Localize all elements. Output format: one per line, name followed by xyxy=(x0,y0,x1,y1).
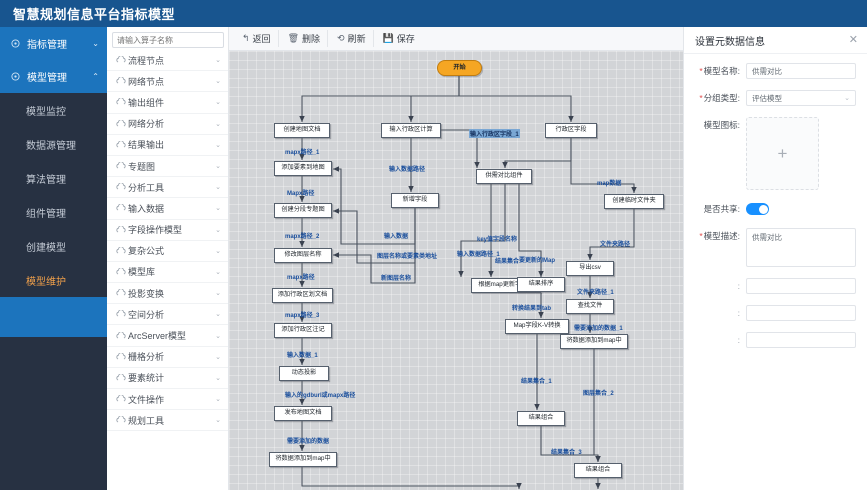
chevron-down-icon[interactable]: ⌄ xyxy=(215,395,221,403)
chevron-down-icon[interactable]: ⌄ xyxy=(215,120,221,128)
cloud-icon xyxy=(116,140,128,150)
plus-icon: + xyxy=(778,144,788,164)
field-control: + xyxy=(746,117,856,190)
tree-item-label: 分析工具 xyxy=(128,181,215,194)
cloud-icon xyxy=(116,55,128,65)
sidebar-item-label: 数据源管理 xyxy=(26,137,76,152)
field-control xyxy=(746,332,856,348)
flow-node[interactable]: 行政区字段 xyxy=(545,123,597,138)
flow-node[interactable]: 结果组合 xyxy=(574,463,622,478)
flow-node[interactable]: 结果组合 xyxy=(517,411,565,426)
tree-item[interactable]: 复杂公式⌄ xyxy=(107,241,228,262)
tree-item[interactable]: 模型库⌄ xyxy=(107,262,228,283)
flow-edge-label[interactable]: mapx路径_2 xyxy=(285,231,319,240)
extra_1-input[interactable] xyxy=(746,278,856,294)
sidebar-item-component[interactable]: 组件管理 xyxy=(0,195,107,229)
flow-canvas[interactable]: 开始创建地图文档添加要素到地图创建分段专题图修改图层名称添加行政区划文档添加行政… xyxy=(229,51,683,490)
field-label: 是否共享: xyxy=(690,201,746,217)
chevron-down-icon[interactable]: ⌄ xyxy=(215,247,221,255)
cloud-icon xyxy=(116,76,128,86)
tree-item[interactable]: 空间分析⌄ xyxy=(107,304,228,325)
flow-node[interactable]: 动态投影 xyxy=(279,366,329,381)
sidebar-group-label: 模型管理 xyxy=(27,69,92,84)
chevron-down-icon[interactable]: ⌄ xyxy=(215,268,221,276)
refresh-icon: ⟲ xyxy=(337,33,345,44)
flow-edge-label[interactable]: mapx路径_1 xyxy=(285,147,319,156)
extra_3-input[interactable] xyxy=(746,332,856,348)
sidebar: 指标管理 ⌄ 模型管理 ⌃ 模型监控 数据源管理 算法管理 组件管理 创建模型 … xyxy=(0,27,107,490)
required-asterisk: * xyxy=(699,66,702,76)
tree-item[interactable]: 要素统计⌄ xyxy=(107,368,228,389)
model_desc-textarea[interactable]: 供需对比 xyxy=(746,228,856,267)
tree-item-label: 输出组件 xyxy=(128,96,215,109)
tree-item[interactable]: 字段操作模型⌄ xyxy=(107,220,228,241)
extra_2-input[interactable] xyxy=(746,305,856,321)
flow-edge-label[interactable]: 新图层名称 xyxy=(381,273,411,282)
cloud-icon xyxy=(116,288,128,298)
flow-edge-label[interactable]: 输入数据 xyxy=(384,231,408,240)
flow-edge-label[interactable]: key值字段名称 xyxy=(477,234,517,243)
sidebar-item-label: 算法管理 xyxy=(26,171,66,186)
flow-edge-label[interactable]: 输入的gdburl或mapx路径 xyxy=(285,390,355,399)
chevron-down-icon[interactable]: ⌄ xyxy=(215,183,221,191)
cloud-icon xyxy=(116,203,128,213)
tree-item[interactable]: 结果输出⌄ xyxy=(107,135,228,156)
chevron-down-icon[interactable]: ⌄ xyxy=(215,374,221,382)
delete-button[interactable]: 🗑删除 xyxy=(281,30,328,47)
cloud-icon xyxy=(116,97,128,107)
flow-node[interactable]: 创建分段专题图 xyxy=(274,203,332,218)
app-root: 智慧规划信息平台指标模型 指标管理 ⌄ 模型管理 ⌃ 模型监控 数据源管理 算法… xyxy=(0,0,867,490)
chevron-down-icon[interactable]: ⌄ xyxy=(215,56,221,64)
chevron-down-icon[interactable]: ⌄ xyxy=(215,353,221,361)
toggle-knob xyxy=(759,205,768,214)
flow-node[interactable]: 修改图层名称 xyxy=(274,248,332,263)
flow-edge-label[interactable]: 转换结果到tab xyxy=(512,303,551,312)
sidebar-item-create-model[interactable]: 创建模型 xyxy=(0,229,107,263)
flow-node[interactable]: 添加要素到地图 xyxy=(274,161,332,176)
tree-item[interactable]: 投影变换⌄ xyxy=(107,283,228,304)
chevron-down-icon[interactable]: ⌄ xyxy=(215,226,221,234)
field-label: 模型图标: xyxy=(690,117,746,133)
tree-item-label: 文件操作 xyxy=(128,393,215,406)
flow-node[interactable]: 结果排序 xyxy=(517,277,565,292)
tree-item-label: 流程节点 xyxy=(128,54,215,67)
flow-edge-label[interactable]: 结果集合_1 xyxy=(521,376,552,385)
flow-edge-label[interactable]: 结果集合 xyxy=(495,256,519,265)
tree-item-label: 输入数据 xyxy=(128,202,215,215)
panel-title: 设置元数据信息 xyxy=(695,33,765,48)
toolbar-button-label: 返回 xyxy=(253,32,271,45)
flow-edge-label[interactable]: 结果集合_3 xyxy=(551,447,582,456)
cloud-icon xyxy=(116,394,128,404)
tree-item-label: ArcServer模型 xyxy=(128,329,215,342)
flow-edge-label[interactable]: 输入数据_1 xyxy=(287,350,318,359)
flow-edge-label[interactable]: 需要添加的数据 xyxy=(287,436,329,445)
metadata-panel-header: 设置元数据信息 ✕ xyxy=(684,27,867,54)
flow-node[interactable]: 添加行政区注记 xyxy=(274,323,332,338)
cloud-icon xyxy=(116,415,128,425)
field-control xyxy=(746,201,856,215)
chevron-down-icon[interactable]: ⌄ xyxy=(215,289,221,297)
operator-tree-panel: ⌄ 流程节点⌄网络节点⌄输出组件⌄网络分析⌄结果输出⌄专题图⌄分析工具⌄输入数据… xyxy=(107,27,229,490)
back-arrow-icon: ↰ xyxy=(242,33,250,44)
flow-edge-label[interactable]: Mapx路径 xyxy=(287,188,314,197)
tree-item[interactable]: ArcServer模型⌄ xyxy=(107,325,228,346)
flow-node[interactable]: 输入行政区计算 xyxy=(381,123,441,138)
tree-item-label: 专题图 xyxy=(128,160,215,173)
trash-icon: 🗑 xyxy=(288,33,299,44)
field-label: : xyxy=(690,305,746,321)
app-header: 智慧规划信息平台指标模型 xyxy=(0,0,867,27)
chevron-down-icon[interactable]: ⌄ xyxy=(215,310,221,318)
share-toggle[interactable] xyxy=(746,203,769,215)
form-row: 模型图标:+ xyxy=(690,117,856,190)
toolbar-button-label: 刷新 xyxy=(348,32,366,45)
tree-item[interactable]: 分析工具⌄ xyxy=(107,177,228,198)
cloud-icon xyxy=(116,225,128,235)
sidebar-item-label: 模型监控 xyxy=(26,103,66,118)
chevron-down-icon[interactable]: ⌄ xyxy=(215,162,221,170)
chevron-down-icon[interactable]: ⌄ xyxy=(215,332,221,340)
sidebar-item-model-monitor[interactable]: 模型监控 xyxy=(0,93,107,127)
cloud-icon xyxy=(116,119,128,129)
location-pin-icon xyxy=(10,71,21,82)
flow-node[interactable]: 供需对比组件 xyxy=(476,169,532,184)
flow-edge-label-selected[interactable]: 输入行政区字段_1 xyxy=(469,129,520,138)
tree-item[interactable]: 输出组件⌄ xyxy=(107,92,228,113)
cloud-icon xyxy=(116,331,128,341)
select-value: 评估模型 xyxy=(752,93,782,104)
cloud-icon xyxy=(116,352,128,362)
required-asterisk: * xyxy=(699,93,702,103)
metadata-form: *模型名称:供需对比*分组类型:评估模型⌄模型图标:+是否共享:*模型描述:供需… xyxy=(684,54,867,348)
sidebar-group-label: 指标管理 xyxy=(27,36,92,51)
cloud-icon xyxy=(116,373,128,383)
sidebar-item-model-maintain[interactable]: 模型维护 xyxy=(0,263,107,297)
field-label: *模型描述: xyxy=(690,228,746,244)
search-input[interactable] xyxy=(117,36,227,45)
tree-item[interactable]: 规划工具⌄ xyxy=(107,410,228,431)
flow-edge-label[interactable]: 需要添加的数据_1 xyxy=(574,323,623,332)
tree-item[interactable]: 网络分析⌄ xyxy=(107,114,228,135)
save-icon: 💾 xyxy=(383,33,394,44)
form-row: *模型描述:供需对比 xyxy=(690,228,856,267)
flow-edge-label[interactable]: mapx路径_3 xyxy=(285,310,319,319)
flow-edge-label[interactable]: 要更新的Map xyxy=(519,255,555,264)
cloud-icon xyxy=(116,267,128,277)
toolbar-button-label: 保存 xyxy=(397,32,415,45)
form-row: *模型名称:供需对比 xyxy=(690,63,856,79)
field-control: 供需对比 xyxy=(746,228,856,267)
flow-edge-label[interactable]: map数据 xyxy=(597,178,621,187)
flow-edge-label[interactable]: 图层集合_2 xyxy=(583,388,614,397)
refresh-button[interactable]: ⟲刷新 xyxy=(330,30,374,47)
tree-item-label: 规划工具 xyxy=(128,414,215,427)
flow-node[interactable]: 导出csv xyxy=(566,261,614,276)
sidebar-item-label: 模型维护 xyxy=(26,273,66,288)
tree-item-label: 网络分析 xyxy=(128,117,215,130)
flow-node[interactable]: 将数据添加到map中 xyxy=(269,452,337,467)
required-asterisk: * xyxy=(699,231,702,241)
cloud-icon xyxy=(116,182,128,192)
tree-item-label: 字段操作模型 xyxy=(128,223,215,236)
field-control: 供需对比 xyxy=(746,63,856,79)
tree-item-label: 空间分析 xyxy=(128,308,215,321)
cloud-icon xyxy=(116,161,128,171)
metadata-panel: 设置元数据信息 ✕ *模型名称:供需对比*分组类型:评估模型⌄模型图标:+是否共… xyxy=(683,27,867,490)
flow-node[interactable]: 添加行政区划文档 xyxy=(272,288,333,303)
form-row: : xyxy=(690,305,856,321)
model_name-input[interactable]: 供需对比 xyxy=(746,63,856,79)
tree-item[interactable]: 专题图⌄ xyxy=(107,156,228,177)
tree-item-label: 结果输出 xyxy=(128,138,215,151)
flow-node[interactable]: 将数据添加到map中 xyxy=(560,334,628,349)
tree-item[interactable]: 文件操作⌄ xyxy=(107,389,228,410)
flow-edge-label[interactable]: 图层名称或要素类地址 xyxy=(377,251,437,260)
flow-edge-label[interactable]: mapx路径 xyxy=(287,272,315,281)
location-pin-icon xyxy=(10,38,21,49)
operator-search-box[interactable]: ⌄ xyxy=(112,32,224,48)
tree-item-label: 模型库 xyxy=(128,265,215,278)
form-row: 是否共享: xyxy=(690,201,856,217)
chevron-down-icon[interactable]: ⌄ xyxy=(215,77,221,85)
editor-toolbar: ↰返回🗑删除⟲刷新💾保存 xyxy=(229,27,683,51)
chevron-down-icon: ⌄ xyxy=(844,94,850,102)
sidebar-item-datasource[interactable]: 数据源管理 xyxy=(0,127,107,161)
save-button[interactable]: 💾保存 xyxy=(376,30,422,47)
tree-item-label: 网络节点 xyxy=(128,75,215,88)
sidebar-group-model[interactable]: 模型管理 ⌃ xyxy=(0,60,107,93)
flow-node[interactable]: 发布地图文档 xyxy=(274,406,332,421)
flow-node[interactable]: 创建临时文件夹 xyxy=(604,194,664,209)
tree-item[interactable]: 栅格分析⌄ xyxy=(107,347,228,368)
form-row: : xyxy=(690,332,856,348)
tree-item-label: 栅格分析 xyxy=(128,350,215,363)
flow-edge-label[interactable]: 输入数据路径 xyxy=(389,164,425,173)
tree-item-label: 投影变换 xyxy=(128,287,215,300)
flow-node[interactable]: 创建地图文档 xyxy=(274,123,330,138)
flow-node[interactable]: 查找文件 xyxy=(566,299,614,314)
sidebar-item-label: 创建模型 xyxy=(26,239,66,254)
flow-edge-label[interactable]: 文件夹路径_1 xyxy=(577,287,614,296)
form-row: : xyxy=(690,278,856,294)
chevron-down-icon[interactable]: ⌄ xyxy=(215,416,221,424)
chevron-down-icon[interactable]: ⌄ xyxy=(215,204,221,212)
field-control xyxy=(746,278,856,294)
back-button[interactable]: ↰返回 xyxy=(235,30,279,47)
field-label: *模型名称: xyxy=(690,63,746,79)
tree-item-label: 复杂公式 xyxy=(128,244,215,257)
app-title: 智慧规划信息平台指标模型 xyxy=(0,4,175,23)
chevron-up-icon: ⌃ xyxy=(92,72,99,81)
flow-node[interactable]: Map字段K-V转换 xyxy=(505,319,569,334)
tree-item-label: 要素统计 xyxy=(128,371,215,384)
field-control xyxy=(746,305,856,321)
flow-edge-label[interactable]: 输入数据路径_1 xyxy=(457,249,500,258)
field-label: : xyxy=(690,332,746,348)
flow-node[interactable]: 新增字段 xyxy=(391,193,439,208)
flow-start-node[interactable]: 开始 xyxy=(437,60,482,76)
chevron-down-icon[interactable]: ⌄ xyxy=(215,141,221,149)
form-row: *分组类型:评估模型⌄ xyxy=(690,90,856,106)
sidebar-item-algorithm[interactable]: 算法管理 xyxy=(0,161,107,195)
field-control: 评估模型⌄ xyxy=(746,90,856,106)
operator-tree-list: 流程节点⌄网络节点⌄输出组件⌄网络分析⌄结果输出⌄专题图⌄分析工具⌄输入数据⌄字… xyxy=(107,50,228,431)
sidebar-filler xyxy=(0,297,107,337)
cloud-icon xyxy=(116,309,128,319)
chevron-down-icon[interactable]: ⌄ xyxy=(215,98,221,106)
tree-item[interactable]: 输入数据⌄ xyxy=(107,198,228,219)
sidebar-group-indicator[interactable]: 指标管理 ⌄ xyxy=(0,27,107,60)
flow-edge-label[interactable]: 文件夹路径 xyxy=(600,239,630,248)
close-icon[interactable]: ✕ xyxy=(849,35,858,46)
field-label: *分组类型: xyxy=(690,90,746,106)
tree-item[interactable]: 网络节点⌄ xyxy=(107,71,228,92)
cloud-icon xyxy=(116,246,128,256)
toolbar-button-label: 删除 xyxy=(302,32,320,45)
tree-item[interactable]: 流程节点⌄ xyxy=(107,50,228,71)
chevron-down-icon: ⌄ xyxy=(92,39,99,48)
group_type-select[interactable]: 评估模型⌄ xyxy=(746,90,856,106)
sidebar-item-label: 组件管理 xyxy=(26,205,66,220)
icon-upload-dropzone[interactable]: + xyxy=(746,117,819,190)
field-label: : xyxy=(690,278,746,294)
flow-edges xyxy=(229,51,683,490)
